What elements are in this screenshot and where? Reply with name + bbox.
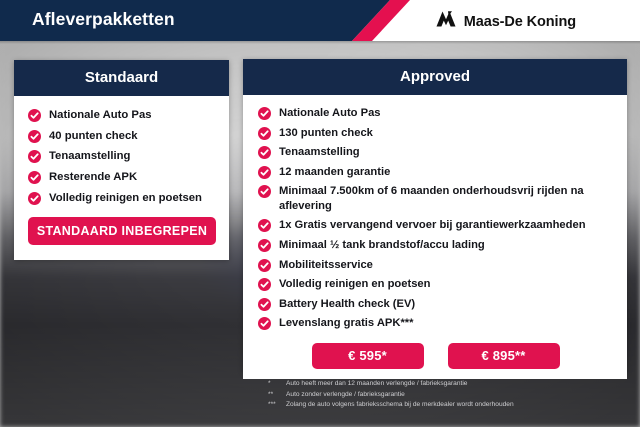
standaard-feature-item: Resterende APK [28, 170, 216, 185]
header-shadow [0, 41, 640, 44]
standaard-card-heading: Standaard [14, 60, 229, 96]
footnote-row: ***Zolang de auto volgens fabrieksschema… [268, 400, 634, 411]
approved-package-card: Approved Nationale Auto Pas130 punten ch… [243, 59, 627, 372]
check-circle-icon [258, 146, 271, 159]
approved-feature-item: Volledig reinigen en poetsen [258, 277, 613, 292]
check-circle-icon [258, 166, 271, 179]
approved-feature-item: Minimaal ½ tank brandstof/accu lading [258, 238, 613, 253]
approved-card-body: Nationale Auto Pas130 punten checkTenaam… [243, 95, 627, 379]
approved-feature-label: Tenaamstelling [279, 146, 360, 158]
footnote-row: *Auto heeft meer dan 12 maanden verlengd… [268, 379, 634, 390]
approved-feature-item: Nationale Auto Pas [258, 106, 613, 121]
page-title: Afleverpakketten [32, 9, 175, 30]
approved-feature-label: Mobiliteitsservice [279, 259, 373, 271]
standaard-feature-label: 40 punten check [49, 130, 138, 142]
check-circle-icon [28, 130, 41, 143]
footnote-marker: ** [268, 390, 280, 401]
check-circle-icon [28, 150, 41, 163]
approved-feature-label: 12 maanden garantie [279, 166, 390, 178]
brand-logo: Maas-De Koning [435, 10, 576, 33]
check-circle-icon [28, 171, 41, 184]
footnote-marker: * [268, 379, 280, 390]
check-circle-icon [258, 317, 271, 330]
standaard-feature-label: Nationale Auto Pas [49, 109, 152, 121]
approved-card-heading: Approved [243, 59, 627, 95]
standaard-feature-label: Volledig reinigen en poetsen [49, 192, 202, 204]
standaard-card-body: Nationale Auto Pas40 punten checkTenaams… [14, 96, 229, 257]
footnote-text: Auto zonder verlengde / fabrieksgarantie [286, 390, 634, 401]
approved-feature-item: 1x Gratis vervangend vervoer bij garanti… [258, 218, 613, 233]
standaard-feature-item: Nationale Auto Pas [28, 108, 216, 123]
approved-feature-label: Levenslang gratis APK*** [279, 317, 414, 329]
approved-feature-label: Nationale Auto Pas [279, 107, 381, 119]
maas-de-koning-mark-icon [435, 10, 457, 33]
footnote-marker: *** [268, 400, 280, 411]
check-circle-icon [28, 192, 41, 205]
check-circle-icon [258, 127, 271, 140]
approved-price-row: € 595*€ 895** [258, 343, 613, 369]
standaard-package-card: Standaard Nationale Auto Pas40 punten ch… [14, 60, 229, 260]
approved-feature-item: Battery Health check (EV) [258, 297, 613, 312]
footnote-text: Zolang de auto volgens fabrieksschema bi… [286, 400, 634, 411]
check-circle-icon [258, 239, 271, 252]
check-circle-icon [258, 185, 271, 198]
price-button-1[interactable]: € 595* [312, 343, 424, 369]
approved-feature-label: Volledig reinigen en poetsen [279, 278, 430, 290]
approved-feature-label: Battery Health check (EV) [279, 298, 415, 310]
check-circle-icon [258, 107, 271, 120]
check-circle-icon [258, 298, 271, 311]
standaard-inbegrepen-button[interactable]: STANDAARD INBEGREPEN [28, 217, 216, 245]
check-circle-icon [258, 219, 271, 232]
approved-feature-item: Levenslang gratis APK*** [258, 316, 613, 331]
screenshot-root: Afleverpakketten Maas-De Koning Standaar… [0, 0, 640, 427]
approved-feature-item: 130 punten check [258, 126, 613, 141]
approved-feature-label: Minimaal 7.500km of 6 maanden onderhouds… [279, 185, 584, 212]
standaard-feature-list: Nationale Auto Pas40 punten checkTenaams… [28, 108, 216, 205]
standaard-feature-label: Resterende APK [49, 171, 137, 183]
check-circle-icon [258, 278, 271, 291]
footnote-text: Auto heeft meer dan 12 maanden verlengde… [286, 379, 634, 390]
approved-feature-label: Minimaal ½ tank brandstof/accu lading [279, 239, 485, 251]
standaard-feature-label: Tenaamstelling [49, 150, 130, 162]
footnote-row: **Auto zonder verlengde / fabrieksgarant… [268, 390, 634, 401]
approved-feature-item: Tenaamstelling [258, 145, 613, 160]
standaard-feature-item: 40 punten check [28, 129, 216, 144]
standaard-feature-item: Tenaamstelling [28, 149, 216, 164]
footnotes: *Auto heeft meer dan 12 maanden verlengd… [268, 379, 634, 411]
approved-feature-list: Nationale Auto Pas130 punten checkTenaam… [258, 106, 613, 331]
page-header: Afleverpakketten Maas-De Koning [0, 0, 640, 41]
approved-feature-label: 1x Gratis vervangend vervoer bij garanti… [279, 219, 586, 231]
price-button-2[interactable]: € 895** [448, 343, 560, 369]
approved-feature-item: Mobiliteitsservice [258, 258, 613, 273]
check-circle-icon [258, 259, 271, 272]
approved-feature-label: 130 punten check [279, 127, 373, 139]
approved-feature-item: 12 maanden garantie [258, 165, 613, 180]
standaard-feature-item: Volledig reinigen en poetsen [28, 191, 216, 206]
check-circle-icon [28, 109, 41, 122]
approved-feature-item: Minimaal 7.500km of 6 maanden onderhouds… [258, 184, 613, 213]
brand-name: Maas-De Koning [464, 14, 576, 30]
